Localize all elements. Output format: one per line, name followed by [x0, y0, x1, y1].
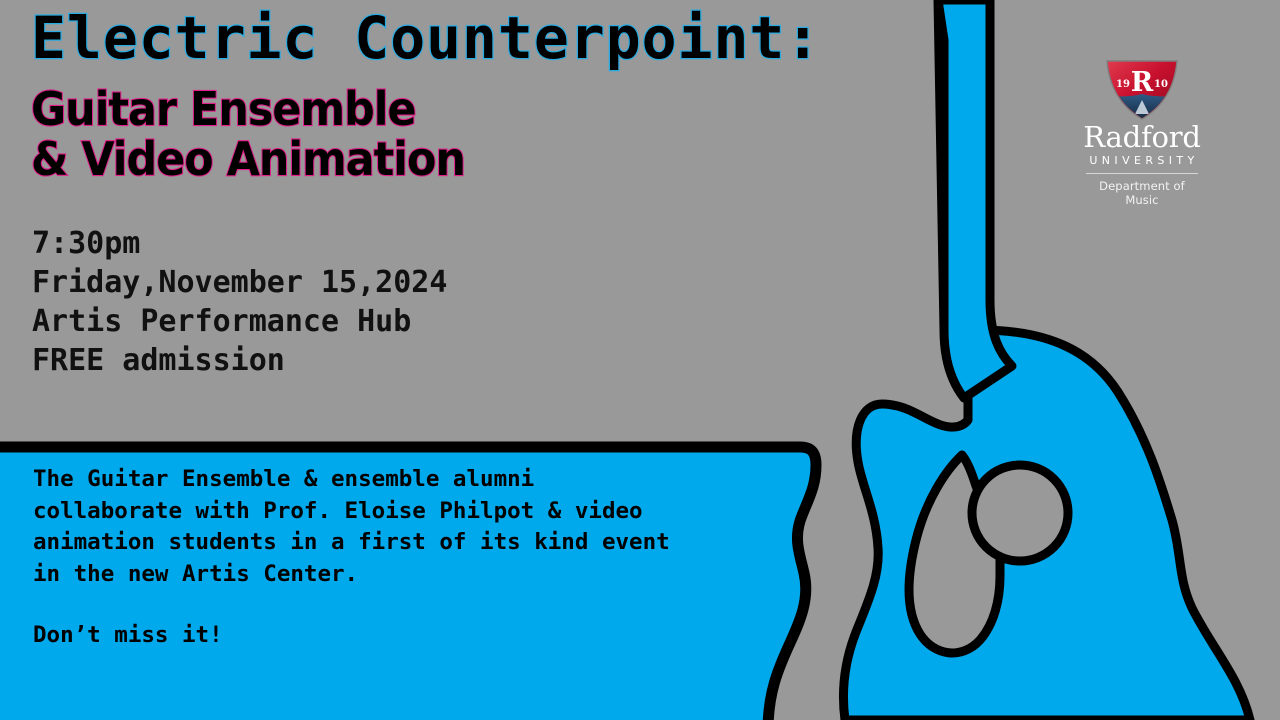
body-copy-block: The Guitar Ensemble & ensemble alumni co… [33, 464, 813, 652]
guitar-soundhole [972, 465, 1068, 561]
shield-year-left: 19 [1116, 79, 1130, 90]
guitar-neck-edge [938, 0, 944, 330]
event-poster: Electric Counterpoint: Guitar Ensemble &… [0, 0, 1280, 720]
event-date: Friday,November 15,2024 [32, 263, 447, 302]
subtitle-line-1: Guitar Ensemble [31, 84, 766, 134]
body-copy-line-3: animation students in a first of its kin… [33, 527, 813, 559]
event-venue: Artis Performance Hub [32, 302, 447, 341]
event-time: 7:30pm [32, 224, 447, 263]
body-copy-call-to-action: Don’t miss it! [33, 620, 813, 652]
body-copy-line-1: The Guitar Ensemble & ensemble alumni [33, 464, 813, 496]
subtitle-line-2: & Video Animation [31, 134, 766, 184]
event-details-block: 7:30pm Friday,November 15,2024 Artis Per… [32, 224, 447, 380]
event-admission: FREE admission [32, 341, 447, 380]
shield-year-right: 10 [1154, 79, 1168, 90]
radford-university-text: UNIVERSITY [1083, 154, 1201, 167]
body-copy-line-2: collaborate with Prof. Eloise Philpot & … [33, 496, 813, 528]
shield-letter-r: R [1131, 67, 1154, 98]
radford-wordmark: Radford [1083, 121, 1201, 153]
radford-department-text: Department of Music [1083, 179, 1201, 207]
body-copy-spacer [33, 590, 813, 620]
subtitle-block: Guitar Ensemble & Video Animation [31, 84, 821, 184]
headline-block: Electric Counterpoint: Guitar Ensemble &… [31, 4, 821, 184]
body-copy-line-4: in the new Artis Center. [33, 559, 813, 591]
radford-shield-icon: R 19 10 [1105, 58, 1179, 120]
logo-divider [1086, 173, 1198, 174]
page-title: Electric Counterpoint: [31, 4, 821, 72]
radford-university-logo: R 19 10 Radford UNIVERSITY Department of… [1083, 58, 1201, 207]
